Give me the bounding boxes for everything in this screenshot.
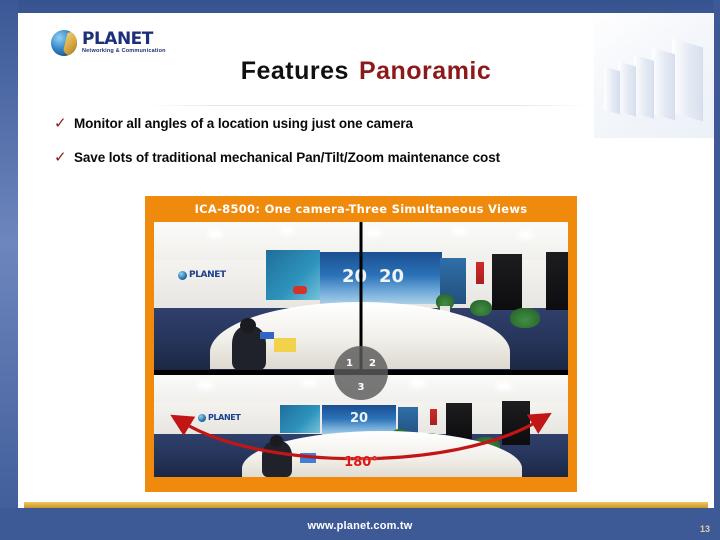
footer-gold-bar — [24, 502, 708, 508]
ceiling-light — [498, 384, 509, 388]
view-number-badges: 1 2 3 — [334, 346, 388, 400]
page-title-accent: Panoramic — [359, 57, 491, 85]
desk-paper — [274, 338, 296, 352]
list-item: ✓ Monitor all angles of a location using… — [54, 114, 704, 132]
potted-plant — [510, 308, 540, 328]
list-item-label: Monitor all angles of a location using j… — [74, 116, 413, 131]
wall-logo-globe-icon — [178, 271, 187, 280]
title-divider — [148, 105, 588, 106]
planet-logo-text: PLANET Networking & Communication — [82, 31, 166, 55]
person-head — [270, 435, 283, 447]
red-poster — [476, 262, 484, 284]
planet-globe-icon — [51, 30, 77, 56]
wall-logo: PLANET — [198, 413, 240, 422]
figure-image: PLANET 20 20 — [154, 222, 568, 477]
ceiling-light — [520, 233, 531, 237]
dark-door — [502, 401, 530, 445]
pan-angle-label: 180° — [344, 455, 378, 470]
page-title-main: Features — [241, 57, 349, 85]
view-badge-2: 2 — [369, 358, 376, 369]
anniversary-number: 20 — [350, 411, 368, 426]
wall-logo-text: PLANET — [208, 413, 240, 422]
ceiling-light — [282, 228, 293, 232]
figure-caption: ICA-8500: One camera-Three Simultaneous … — [145, 196, 577, 222]
page-title: FeaturesPanoramic — [18, 57, 714, 86]
planet-logo: PLANET Networking & Communication — [51, 30, 166, 56]
potted-plant — [470, 300, 492, 316]
slide: PLANET Networking & Communication Featur… — [0, 0, 720, 540]
slide-top-border — [0, 0, 720, 13]
feature-bullet-list: ✓ Monitor all angles of a location using… — [54, 114, 704, 182]
wall-logo-text: PLANET — [189, 270, 226, 280]
footer-website-url: www.planet.com.tw — [0, 520, 720, 532]
page-number: 13 — [700, 524, 710, 534]
slide-canvas: PLANET Networking & Communication Featur… — [18, 13, 714, 508]
view-badge-3: 3 — [358, 382, 365, 393]
anniversary-number: 20 — [342, 266, 367, 287]
wall-logo-globe-icon — [198, 414, 206, 422]
ceiling-light — [368, 231, 379, 235]
wall-logo: PLANET — [178, 270, 226, 280]
check-icon: ✓ — [54, 148, 74, 166]
anniversary-number: 20 — [379, 266, 404, 287]
planet-logo-tagline: Networking & Communication — [82, 49, 166, 55]
slide-right-border — [714, 0, 720, 540]
ceiling-light — [454, 229, 465, 233]
toy-car — [293, 286, 307, 294]
ceiling-light — [210, 232, 221, 236]
ceiling-light — [304, 380, 315, 384]
list-item-label: Save lots of traditional mechanical Pan/… — [74, 150, 500, 165]
planet-logo-wordmark: PLANET — [82, 31, 166, 48]
desk-folder — [260, 332, 274, 339]
ceiling-light — [200, 383, 211, 387]
person-head — [240, 318, 256, 333]
figure-frame: ICA-8500: One camera-Three Simultaneous … — [145, 196, 577, 492]
check-icon: ✓ — [54, 114, 74, 132]
list-item: ✓ Save lots of traditional mechanical Pa… — [54, 148, 704, 166]
view-badge-1: 1 — [346, 358, 353, 369]
red-poster — [430, 409, 437, 425]
dark-door — [546, 252, 568, 310]
teal-display-panel — [280, 405, 320, 433]
desk-folder — [300, 453, 316, 463]
ceiling-light — [412, 381, 423, 385]
slide-left-border — [0, 0, 18, 540]
dark-door — [492, 254, 522, 310]
